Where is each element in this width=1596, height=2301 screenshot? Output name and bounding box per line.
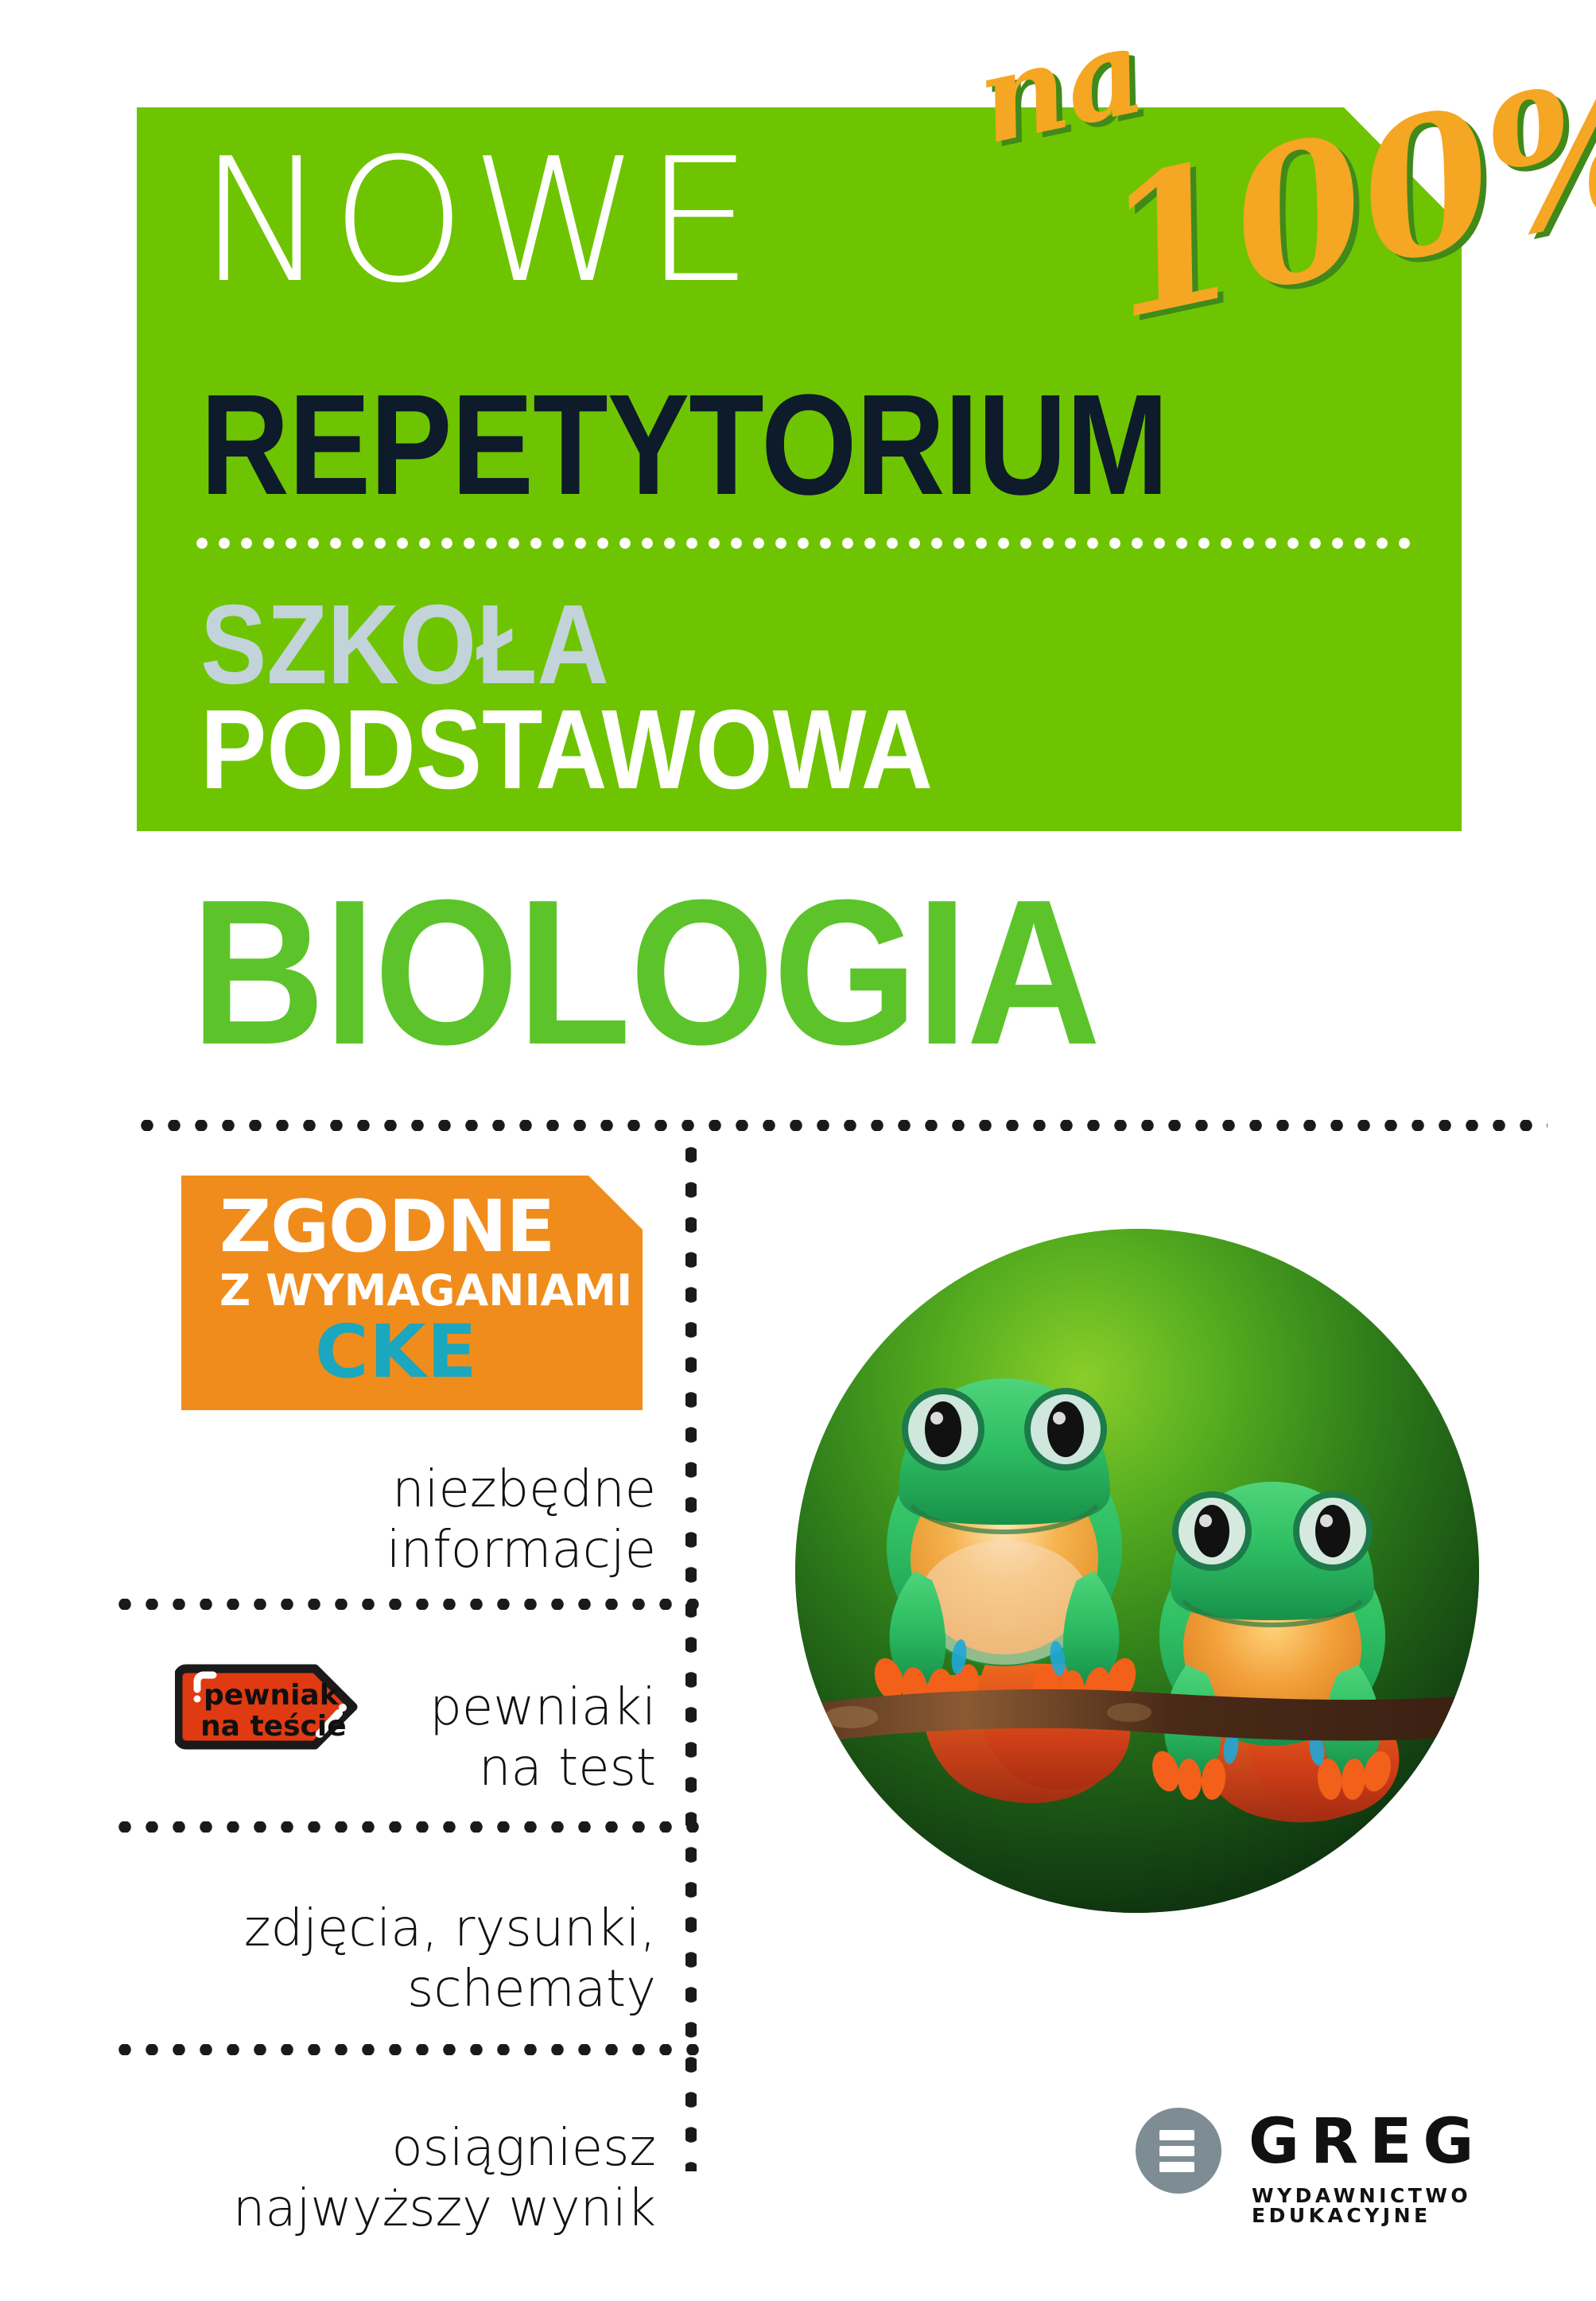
frog-photo-circle — [795, 1229, 1479, 1913]
dotted-divider-row-2 — [111, 1821, 700, 1833]
pewniak-tag-icon: pewniak na teście — [175, 1661, 364, 1753]
dotted-divider-top — [134, 1120, 1547, 1131]
dotted-divider-row-1 — [111, 1599, 700, 1610]
type-line-repetytorium: REPETYTORIUM — [200, 374, 1168, 517]
feature-item-1: niezbędne informacje — [386, 1460, 656, 1580]
level-line-szkola: SZKOŁA — [200, 589, 609, 702]
greg-mark-bar-3 — [1159, 2162, 1194, 2172]
series-word-nowe: NOWE — [199, 135, 758, 306]
feature-item-4: osiągniesz najwyższy wynik — [233, 2119, 656, 2239]
greg-mark-icon — [1136, 2108, 1221, 2194]
cke-badge-line-2: Z WYMAGANIAMI — [219, 1269, 632, 1312]
two-frogs-illustration — [795, 1229, 1479, 1913]
pewniak-tag-line-1: pewniak — [204, 1679, 340, 1712]
greg-mark-bar-2 — [1159, 2146, 1194, 2156]
cke-compliance-badge: ZGODNE Z WYMAGANIAMI CKE — [181, 1176, 643, 1410]
pewniak-na-tescie-tag: pewniak na teście — [175, 1661, 364, 1753]
feature-item-2: pewniaki na test — [429, 1678, 656, 1798]
feature-item-3: zdjęcia, rysunki, schematy — [244, 1899, 656, 2019]
greg-mark-bar-1 — [1159, 2130, 1194, 2140]
level-line-podstawowa: PODSTAWOWA — [200, 694, 933, 807]
dotted-divider-row-3 — [111, 2044, 700, 2055]
publisher-logo: GREG WYDAWNICTWO EDUKACYJNE — [1136, 2106, 1478, 2225]
pewniak-tag-line-2: na teście — [200, 1710, 347, 1743]
dotted-divider-vertical — [685, 1137, 697, 2171]
cke-badge-line-1: ZGODNE — [219, 1191, 554, 1263]
panel-dotted-divider — [191, 538, 1415, 549]
publisher-tagline: WYDAWNICTWO EDUKACYJNE — [1252, 2186, 1478, 2225]
publisher-name: GREG — [1248, 2111, 1485, 2173]
cke-badge-line-3: CKE — [315, 1316, 478, 1389]
subject-title-biologia: BIOLOGIA — [191, 869, 1100, 1076]
